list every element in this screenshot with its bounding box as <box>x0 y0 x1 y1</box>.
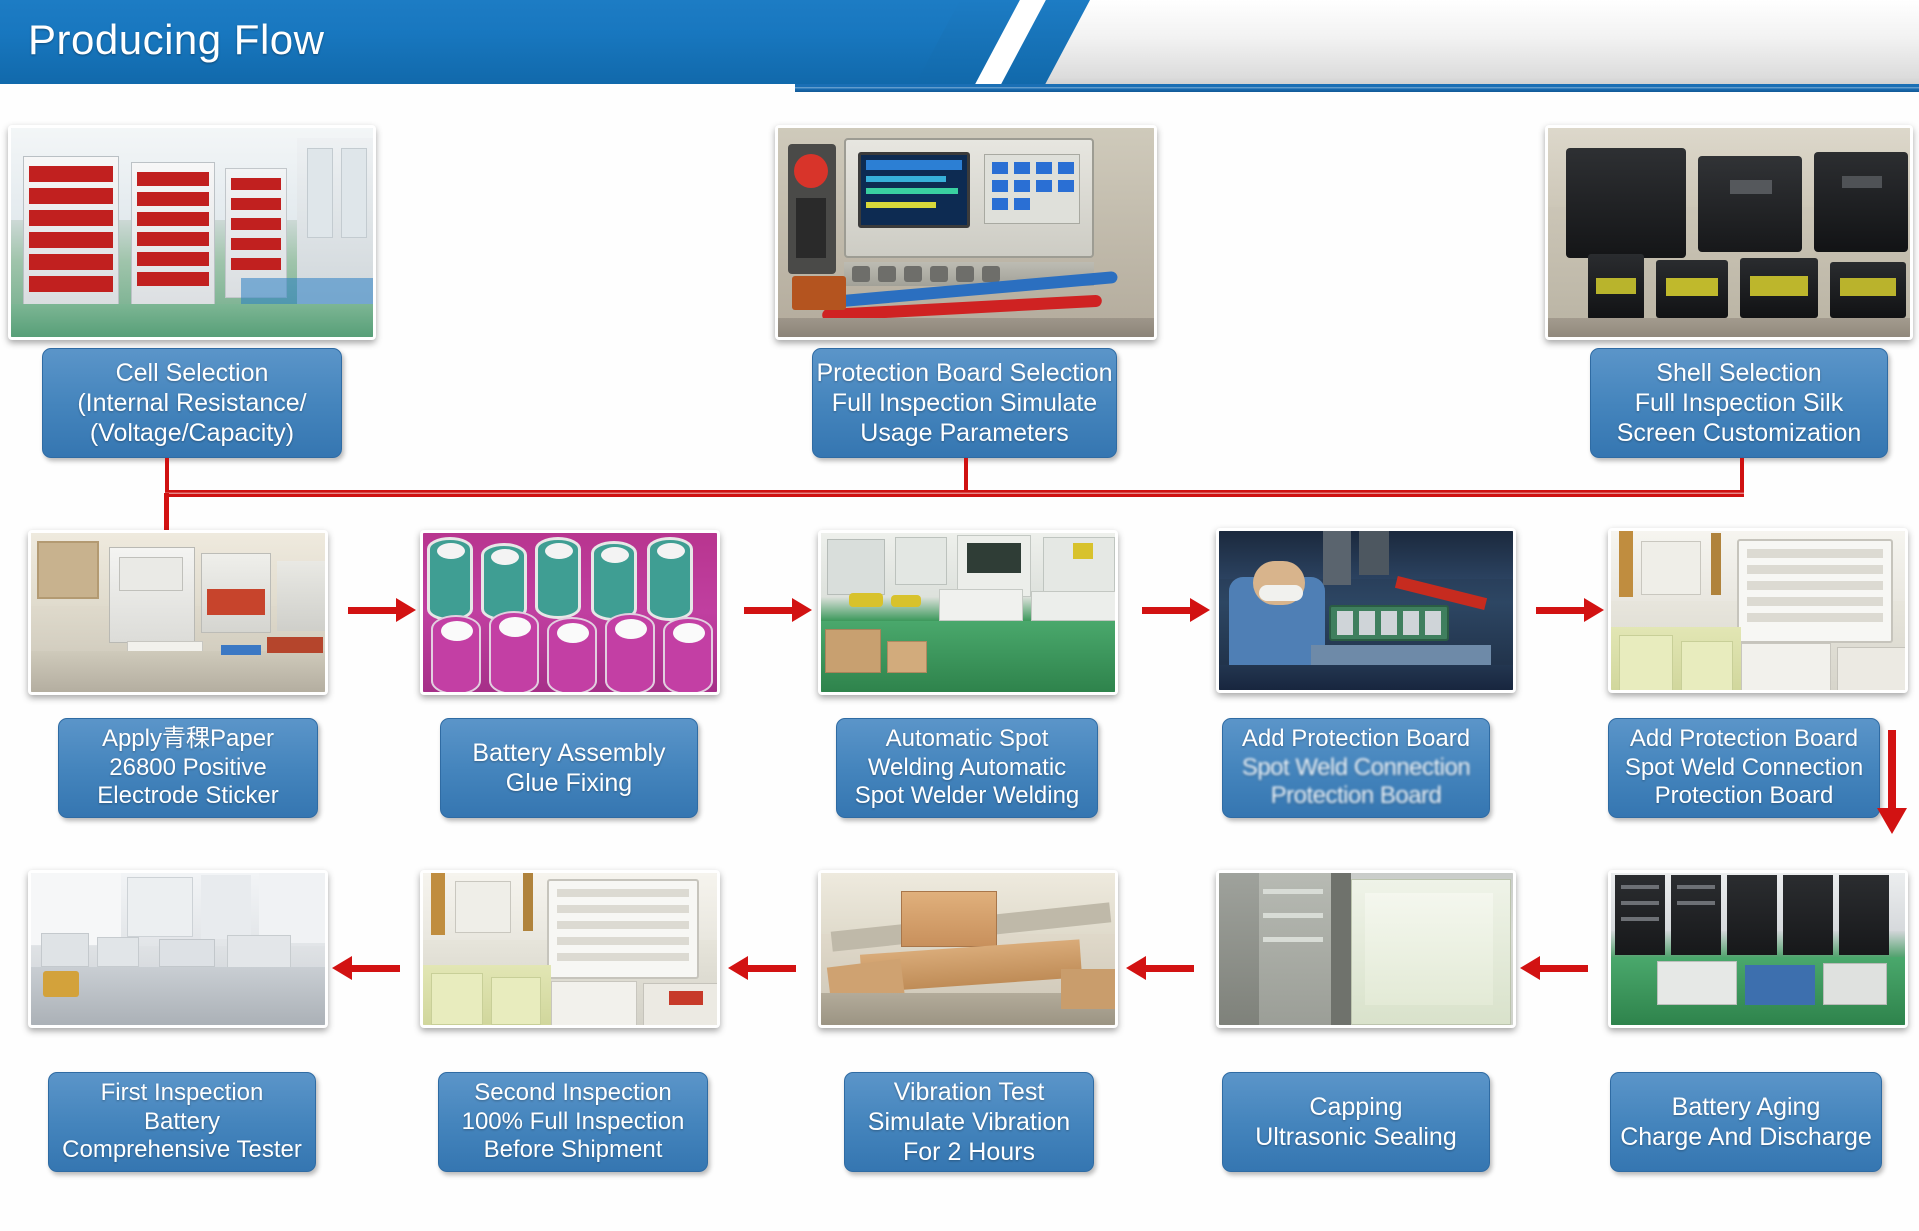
label-line: First Inspection <box>101 1079 264 1108</box>
arrow-row3-2 <box>746 965 796 972</box>
inspection-workshop-photo <box>28 870 328 1028</box>
label-line: Electrode Sticker <box>97 782 278 811</box>
vibration-test-machine-photo <box>818 870 1118 1028</box>
spot-welding-production-line-photo <box>818 530 1118 695</box>
label-line: Spot Weld Connection <box>1242 754 1470 783</box>
connector-stem-cell-selection <box>165 458 169 493</box>
label-add-protection-board-1[interactable]: Add Protection Board Spot Weld Connectio… <box>1222 718 1490 818</box>
label-add-protection-board-2[interactable]: Add Protection Board Spot Weld Connectio… <box>1608 718 1880 818</box>
label-second-inspection[interactable]: Second Inspection 100% Full Inspection B… <box>438 1072 708 1172</box>
cell-warehouse-racks-photo <box>8 125 376 340</box>
label-battery-assembly[interactable]: Battery Assembly Glue Fixing <box>440 718 698 818</box>
arrow-row2-4 <box>1536 607 1586 614</box>
ultrasonic-sealing-machine-photo <box>1216 870 1516 1028</box>
producing-flow-page: Producing Flow <box>0 0 1919 1231</box>
label-apply-paper-sticker[interactable]: Apply青稞Paper 26800 Positive Electrode St… <box>58 718 318 818</box>
label-line: Second Inspection <box>474 1079 671 1108</box>
label-line: Shell Selection <box>1656 358 1821 388</box>
label-line: Add Protection Board <box>1630 725 1858 754</box>
label-line: For 2 Hours <box>903 1137 1035 1167</box>
header-gray-panel <box>1040 0 1919 84</box>
arrow-row3-1 <box>350 965 400 972</box>
arrow-row3-3 <box>1144 965 1194 972</box>
worker-installing-protection-board-photo <box>1216 528 1516 693</box>
label-line: Protection Board <box>1271 782 1442 811</box>
label-battery-aging[interactable]: Battery Aging Charge And Discharge <box>1610 1072 1882 1172</box>
page-header: Producing Flow <box>0 0 1919 96</box>
label-line: (Voltage/Capacity) <box>90 418 294 448</box>
label-cell-selection[interactable]: Cell Selection (Internal Resistance/ (Vo… <box>42 348 342 458</box>
connector-stem-shell-selection <box>1740 458 1744 493</box>
label-line: Spot Weld Connection <box>1625 754 1863 783</box>
label-line: Screen Customization <box>1617 418 1862 448</box>
arrow-row2-1 <box>348 607 398 614</box>
label-line: Before Shipment <box>484 1136 663 1165</box>
label-line: Charge And Discharge <box>1620 1122 1872 1152</box>
label-shell-selection[interactable]: Shell Selection Full Inspection Silk Scr… <box>1590 348 1888 458</box>
label-line: Full Inspection Silk <box>1635 388 1843 418</box>
sticker-applying-machine-photo <box>28 530 328 695</box>
page-title: Producing Flow <box>28 16 324 64</box>
arrow-row2-3 <box>1142 607 1192 614</box>
label-line: Usage Parameters <box>860 418 1068 448</box>
label-line: Vibration Test <box>894 1077 1045 1107</box>
arrow-row2-2 <box>744 607 794 614</box>
connector-horizontal-bus <box>165 490 1744 497</box>
label-line: Ultrasonic Sealing <box>1255 1122 1457 1152</box>
label-line: Glue Fixing <box>506 768 632 798</box>
label-line: Full Inspection Simulate <box>832 388 1097 418</box>
cylindrical-cells-pink-photo <box>420 530 720 695</box>
label-line: Protection Board Selection <box>817 358 1113 388</box>
label-line: Capping <box>1309 1092 1402 1122</box>
label-line: 100% Full Inspection <box>462 1108 685 1137</box>
protection-board-test-equipment-photo <box>775 125 1157 340</box>
connector-stem-protection-board <box>964 458 968 493</box>
label-line: (Internal Resistance/ <box>77 388 306 418</box>
label-vibration-test[interactable]: Vibration Test Simulate Vibration For 2 … <box>844 1072 1094 1172</box>
label-line: 26800 Positive <box>109 754 266 783</box>
label-line: Comprehensive Tester <box>62 1136 302 1165</box>
label-line: Battery <box>144 1108 220 1137</box>
label-line: Add Protection Board <box>1242 725 1470 754</box>
protection-board-workstation-photo <box>1608 528 1908 693</box>
label-line: Cell Selection <box>116 358 269 388</box>
arrow-row2-to-row3 <box>1888 730 1896 810</box>
label-protection-board-selection[interactable]: Protection Board Selection Full Inspecti… <box>812 348 1117 458</box>
header-underline-rule <box>795 84 1919 92</box>
label-line: Battery Assembly <box>472 738 665 768</box>
label-line: Welding Automatic <box>868 754 1066 783</box>
label-line: Apply青稞Paper <box>102 725 274 754</box>
label-capping[interactable]: Capping Ultrasonic Sealing <box>1222 1072 1490 1172</box>
label-line: Spot Welder Welding <box>855 782 1080 811</box>
label-line: Battery Aging <box>1672 1092 1821 1122</box>
second-inspection-station-photo <box>420 870 720 1028</box>
arrow-row3-4 <box>1538 965 1588 972</box>
label-line: Simulate Vibration <box>868 1107 1070 1137</box>
label-first-inspection[interactable]: First Inspection Battery Comprehensive T… <box>48 1072 316 1172</box>
aging-charge-discharge-racks-photo <box>1608 870 1908 1028</box>
battery-shell-cases-photo <box>1545 125 1913 340</box>
label-automatic-spot-welding[interactable]: Automatic Spot Welding Automatic Spot We… <box>836 718 1098 818</box>
label-line: Protection Board <box>1655 782 1834 811</box>
label-line: Automatic Spot <box>886 725 1049 754</box>
